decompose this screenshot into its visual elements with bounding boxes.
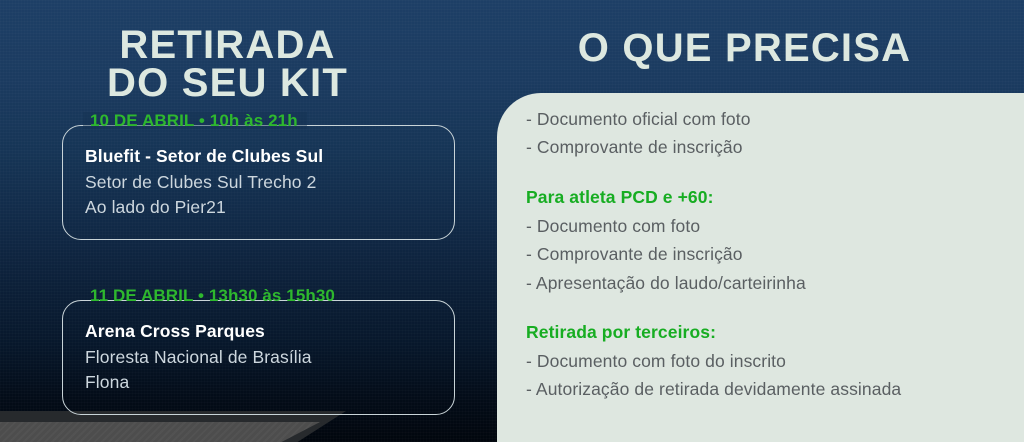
kit-pickup-infographic: RETIRADA DO SEU KIT 10 DE ABRIL • 10h às… (0, 0, 1024, 442)
requirements-group-title: Para atleta PCD e +60: (526, 184, 1014, 211)
pickup-address-line: Setor de Clubes Sul Trecho 2 (85, 170, 442, 195)
pickup-address-line: Flona (85, 370, 442, 395)
pickup-location-details: Arena Cross Parques Floresta Nacional de… (85, 319, 442, 395)
pickup-location-details: Bluefit - Setor de Clubes Sul Setor de C… (85, 144, 442, 220)
pickup-title-line1: RETIRADA (119, 23, 335, 67)
requirements-list: - Documento oficial com foto - Comprovan… (526, 105, 1014, 404)
requirements-group-title: Retirada por terceiros: (526, 319, 1014, 346)
pickup-address-line: Ao lado do Pier21 (85, 195, 442, 220)
requirement-item: - Apresentação do laudo/carteirinha (526, 269, 1014, 297)
pickup-title-line2: DO SEU KIT (0, 64, 455, 102)
pickup-location-card: 10 DE ABRIL • 10h às 21h Bluefit - Setor… (62, 125, 455, 240)
pickup-venue-name: Arena Cross Parques (85, 319, 442, 344)
requirements-group: Para atleta PCD e +60: - Documento com f… (526, 184, 1014, 297)
requirements-group: Retirada por terceiros: - Documento com … (526, 319, 1014, 404)
requirement-item: - Comprovante de inscrição (526, 240, 1014, 268)
requirements-title: O QUE PRECISA (497, 28, 992, 68)
requirement-item: - Documento com foto (526, 212, 1014, 240)
pickup-title: RETIRADA DO SEU KIT (0, 26, 455, 103)
pickup-venue-name: Bluefit - Setor de Clubes Sul (85, 144, 442, 169)
requirements-section: O QUE PRECISA - Documento oficial com fo… (497, 0, 1024, 442)
pickup-address-line: Floresta Nacional de Brasília (85, 345, 442, 370)
requirement-item: - Comprovante de inscrição (526, 133, 1014, 161)
requirements-group: - Documento oficial com foto - Comprovan… (526, 105, 1014, 162)
requirement-item: - Autorização de retirada devidamente as… (526, 375, 1014, 403)
pickup-date-label: 10 DE ABRIL • 10h às 21h (83, 112, 307, 129)
pickup-date-label: 11 DE ABRIL • 13h30 às 15h30 (83, 287, 344, 304)
pickup-location-card: 11 DE ABRIL • 13h30 às 15h30 Arena Cross… (62, 300, 455, 415)
requirement-item: - Documento com foto do inscrito (526, 347, 1014, 375)
requirements-card: - Documento oficial com foto - Comprovan… (497, 93, 1024, 442)
pickup-section: RETIRADA DO SEU KIT 10 DE ABRIL • 10h às… (0, 0, 497, 442)
requirement-item: - Documento oficial com foto (526, 105, 1014, 133)
